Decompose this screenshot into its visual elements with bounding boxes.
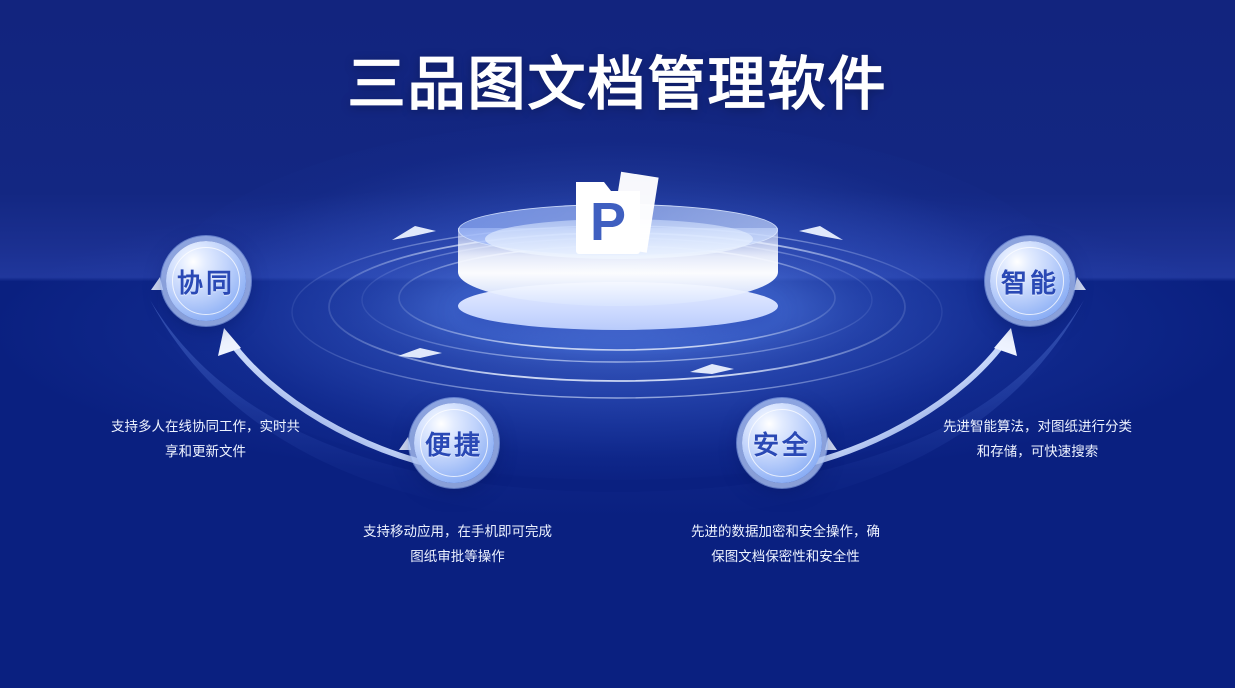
feature-description-safe: 先进的数据加密和安全操作，确 保图文档保密性和安全性 — [638, 519, 933, 569]
description-line: 享和更新文件 — [58, 439, 353, 464]
badge-pointer-easy — [399, 437, 411, 450]
feature-badge-label: 协同 — [177, 263, 235, 300]
feature-description-smart: 先进智能算法，对图纸进行分类 和存储，可快速搜索 — [890, 414, 1185, 464]
feature-badge-collab[interactable]: 协同 — [166, 241, 246, 321]
description-line: 支持多人在线协同工作，实时共 — [58, 414, 353, 439]
description-line: 先进的数据加密和安全操作，确 — [638, 519, 933, 544]
badge-pointer-collab — [151, 277, 163, 290]
badge-pointer-safe — [825, 437, 837, 450]
feature-badge-label: 便捷 — [425, 425, 483, 462]
feature-badge-easy[interactable]: 便捷 — [414, 403, 494, 483]
badge-pointer-smart — [1074, 277, 1086, 290]
feature-badge-label: 智能 — [1001, 263, 1059, 300]
feature-badge-label: 安全 — [753, 425, 811, 462]
description-line: 保图文档保密性和安全性 — [638, 544, 933, 569]
description-line: 先进智能算法，对图纸进行分类 — [890, 414, 1185, 439]
infographic-canvas: P — [0, 0, 1235, 688]
description-line: 图纸审批等操作 — [310, 544, 605, 569]
feature-description-collab: 支持多人在线协同工作，实时共 享和更新文件 — [58, 414, 353, 464]
page-title: 三品图文档管理软件 — [0, 56, 1235, 114]
description-line: 支持移动应用，在手机即可完成 — [310, 519, 605, 544]
feature-badge-smart[interactable]: 智能 — [990, 241, 1070, 321]
feature-badge-safe[interactable]: 安全 — [742, 403, 822, 483]
feature-description-easy: 支持移动应用，在手机即可完成 图纸审批等操作 — [310, 519, 605, 569]
description-line: 和存储，可快速搜索 — [890, 439, 1185, 464]
